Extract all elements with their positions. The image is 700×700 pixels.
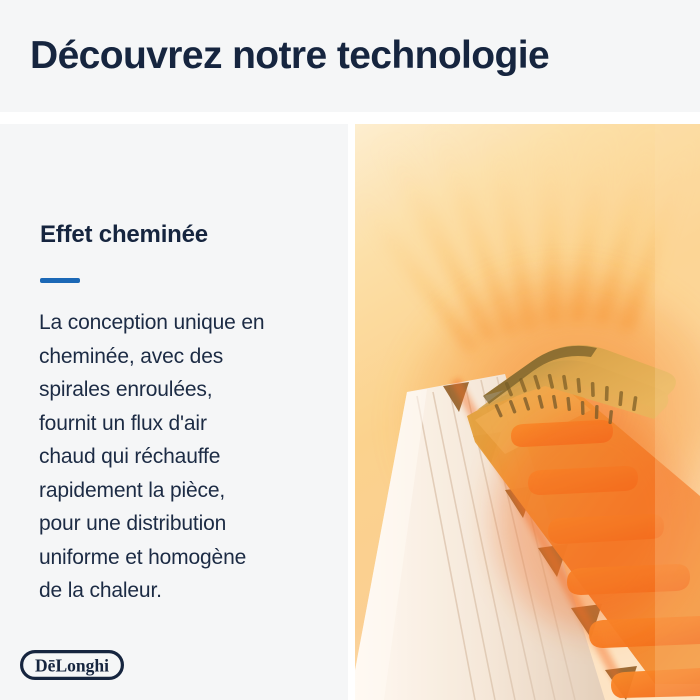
body-line: cheminée, avec des bbox=[39, 340, 329, 374]
body-line: uniforme et homogène bbox=[39, 541, 329, 575]
accent-rule bbox=[40, 278, 80, 283]
section-heading: Effet cheminée bbox=[40, 220, 208, 250]
page-title: Découvrez notre technologie bbox=[30, 32, 549, 80]
body-copy: La conception unique en cheminée, avec d… bbox=[39, 306, 329, 608]
body-line: chaud qui réchauffe bbox=[39, 440, 329, 474]
radiator-heat-photo bbox=[355, 124, 700, 700]
body-line: rapidement la pièce, bbox=[39, 474, 329, 508]
body-line: La conception unique en bbox=[39, 306, 329, 340]
body-line: spirales enroulées, bbox=[39, 373, 329, 407]
header-band: Découvrez notre technologie bbox=[0, 0, 700, 112]
delonghi-wordmark-text: DēLonghi bbox=[35, 655, 109, 675]
panel-divider bbox=[0, 112, 700, 124]
promo-panel: Découvrez notre technologie Effet chemin… bbox=[0, 0, 700, 700]
delonghi-logo-icon: DēLonghi bbox=[20, 650, 124, 680]
body-line: pour une distribution bbox=[39, 507, 329, 541]
body-line: fournit un flux d'air bbox=[39, 407, 329, 441]
body-line: de la chaleur. bbox=[39, 574, 329, 608]
text-panel: Effet cheminée La conception unique en c… bbox=[0, 124, 348, 700]
